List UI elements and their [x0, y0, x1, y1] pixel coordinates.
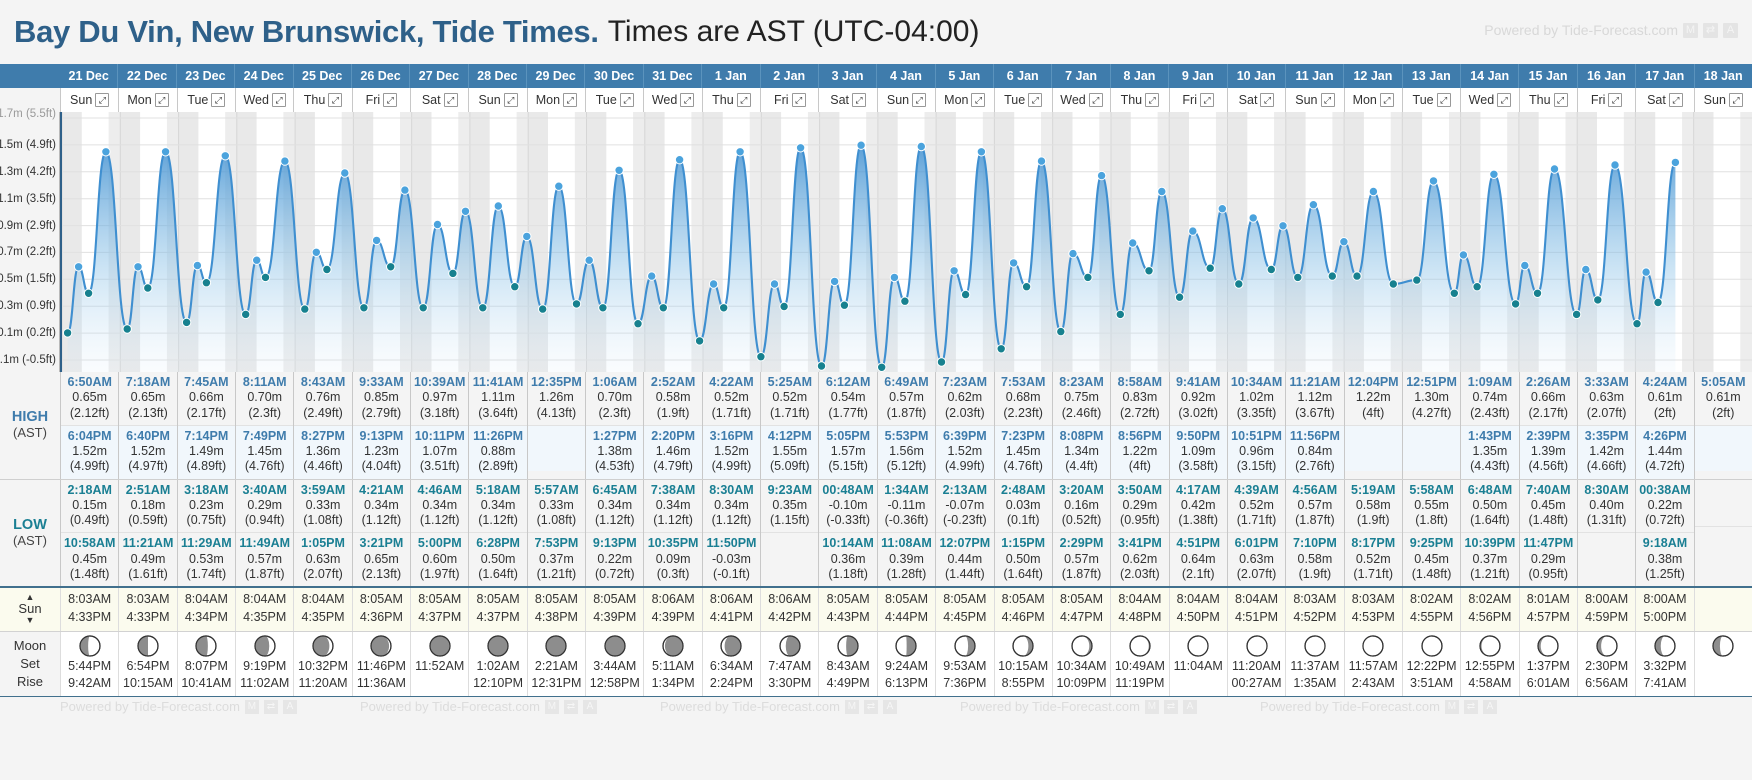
weekday-cell[interactable]: Mon⤢: [1344, 88, 1402, 112]
high-tide-entry: 10:51PM0.96m(3.15ft): [1228, 425, 1285, 479]
weekday-cell[interactable]: Thu⤢: [293, 88, 351, 112]
tide-time: 9:13PM: [586, 536, 643, 551]
sun-cell: 8:05AM4:43PM: [818, 588, 876, 631]
low-tide-column[interactable]: 8:30AM0.34m(1.12ft)11:50PM-0.03m(-0.1ft): [702, 480, 760, 587]
low-tide-entry: 8:30AM0.34m(1.12ft): [703, 480, 760, 533]
low-tide-column[interactable]: 2:13AM-0.07m(-0.23ft)12:07PM0.44m(1.44ft…: [935, 480, 993, 587]
date-header-cell[interactable]: 26 Dec: [351, 64, 409, 88]
high-tide-entry: 8:43AM0.76m(2.49ft): [294, 372, 351, 425]
tide-height-feet: (1.77ft): [819, 406, 876, 421]
tide-height-feet: (1.87ft): [1286, 513, 1343, 528]
tide-height-metres: 0.58m: [1286, 552, 1343, 567]
tide-height-feet: (2.13ft): [119, 406, 176, 421]
date-header-cell[interactable]: 16 Jan: [1577, 64, 1635, 88]
high-tide-section: HIGH (AST) 6:50AM0.65m(2.12ft)6:04PM1.52…: [0, 372, 1752, 480]
tide-time: 7:53PM: [528, 536, 585, 551]
sunrise-time: 8:05AM: [936, 591, 993, 609]
tide-time: 2:39PM: [1520, 429, 1577, 444]
tide-height-feet: (4.53ft): [586, 459, 643, 474]
date-header-cell[interactable]: 25 Dec: [293, 64, 351, 88]
tide-height-feet: (4.76ft): [236, 459, 293, 474]
date-header-cell[interactable]: 31 Dec: [643, 64, 701, 88]
expand-day-icon[interactable]: ⤢: [328, 93, 342, 107]
weekday-cell[interactable]: Sun⤢: [60, 88, 118, 112]
weekday-cell[interactable]: Wed⤢: [1460, 88, 1518, 112]
moonrise-time: 10:15AM: [119, 675, 176, 693]
date-header-cell[interactable]: 18 Jan: [1694, 64, 1752, 88]
tide-height-metres: 0.18m: [119, 498, 176, 513]
tide-height-feet: (4.27ft): [1403, 406, 1460, 421]
expand-day-icon[interactable]: ⤢: [504, 93, 518, 107]
tide-height-metres: 1.12m: [1286, 390, 1343, 405]
moon-cell: 10:49AM11:19PM: [1110, 632, 1168, 696]
moonset-time: 9:53AM: [936, 658, 993, 676]
low-tide-column[interactable]: 4:39AM0.52m(1.71ft)6:01PM0.63m(2.07ft): [1227, 480, 1285, 587]
tide-height-feet: (2.3ft): [236, 406, 293, 421]
low-tide-column[interactable]: 5:57AM0.33m(1.08ft)7:53PM0.37m(1.21ft): [527, 480, 585, 587]
expand-day-icon[interactable]: ⤢: [1669, 93, 1683, 107]
high-tide-column[interactable]: 12:51PM1.30m(4.27ft): [1402, 372, 1460, 479]
low-tide-entry: [761, 532, 818, 578]
tide-time: 3:40AM: [236, 483, 293, 498]
footer-badge-icon: A: [283, 700, 297, 714]
low-tide-column[interactable]: 1:34AM-0.11m(-0.36ft)11:08AM0.39m(1.28ft…: [877, 480, 935, 587]
tide-height-feet: (1.21ft): [1461, 567, 1518, 582]
high-tide-column[interactable]: 7:18AM0.65m(2.13ft)6:40PM1.52m(4.97ft): [118, 372, 176, 479]
sunset-time: 4:33PM: [119, 609, 176, 627]
tide-height-feet: (4.79ft): [644, 459, 701, 474]
weekday-cell[interactable]: Sun⤢: [1285, 88, 1343, 112]
moon-phase-icon: [1111, 634, 1168, 658]
expand-day-icon[interactable]: ⤢: [1554, 93, 1568, 107]
date-header-cell[interactable]: 14 Jan: [1460, 64, 1518, 88]
expand-day-icon[interactable]: ⤢: [1200, 93, 1214, 107]
expand-day-icon[interactable]: ⤢: [95, 93, 109, 107]
weekday-cell[interactable]: Fri⤢: [1169, 88, 1227, 112]
weekday-cell[interactable]: Sat⤢: [1635, 88, 1693, 112]
moon-cell: 3:32PM7:41AM: [1635, 632, 1693, 696]
date-header-cell[interactable]: 7 Jan: [1051, 64, 1109, 88]
sunrise-time: 8:02AM: [1403, 591, 1460, 609]
date-header-cell[interactable]: 21 Dec: [60, 64, 117, 88]
tide-height-feet: (1.28ft): [878, 567, 935, 582]
date-header-cell[interactable]: 13 Jan: [1402, 64, 1460, 88]
date-header-cell[interactable]: 5 Jan: [935, 64, 993, 88]
tide-curve-chart[interactable]: [60, 112, 1752, 372]
expand-day-icon[interactable]: ⤢: [1028, 93, 1042, 107]
sun-cell: 8:05AM4:38PM: [527, 588, 585, 631]
low-tide-column[interactable]: 7:40AM0.45m(1.48ft)11:47PM0.29m(0.95ft): [1519, 480, 1577, 587]
tide-height-metres: 0.35m: [761, 498, 818, 513]
date-header-cell[interactable]: 8 Jan: [1110, 64, 1168, 88]
date-header-cell[interactable]: 6 Jan: [993, 64, 1051, 88]
low-tide-column[interactable]: 4:17AM0.42m(1.38ft)4:51PM0.64m(2.1ft): [1169, 480, 1227, 587]
expand-day-icon[interactable]: ⤢: [211, 93, 225, 107]
weekday-cell[interactable]: Mon⤢: [118, 88, 176, 112]
low-tide-column[interactable]: 8:30AM0.40m(1.31ft): [1577, 480, 1635, 587]
high-tide-entry: 9:50PM1.09m(3.58ft): [1170, 425, 1227, 479]
high-tide-column[interactable]: 1:06AM0.70m(2.3ft)1:27PM1.38m(4.53ft): [585, 372, 643, 479]
low-tide-entry: 00:38AM0.22m(0.72ft): [1636, 480, 1693, 533]
low-tide-column[interactable]: 6:48AM0.50m(1.64ft)10:39PM0.37m(1.21ft): [1460, 480, 1518, 587]
weekday-label: Thu: [1529, 93, 1551, 107]
high-tide-entry: 8:56PM1.22m(4ft): [1111, 425, 1168, 479]
expand-day-icon[interactable]: ⤢: [1145, 93, 1159, 107]
tide-height-feet: (4.76ft): [995, 459, 1052, 474]
tide-height-feet: (2.12ft): [61, 406, 118, 421]
high-tide-entry: 2:20PM1.46m(4.79ft): [644, 425, 701, 479]
y-axis-tick: 0.7m (2.2ft): [0, 246, 56, 258]
moon-cell: 9:24AM6:13PM: [877, 632, 935, 696]
high-tide-column[interactable]: 6:49AM0.57m(1.87ft)5:53PM1.56m(5.12ft): [877, 372, 935, 479]
moon-cell: 11:20AM00:27AM: [1227, 632, 1285, 696]
expand-day-icon[interactable]: ⤢: [1729, 93, 1743, 107]
tide-time: 9:41AM: [1170, 375, 1227, 390]
date-header-cell[interactable]: 28 Dec: [468, 64, 526, 88]
moon-cell: 6:54PM10:15AM: [118, 632, 176, 696]
date-header-cell[interactable]: 1 Jan: [701, 64, 759, 88]
high-tide-column[interactable]: 8:11AM0.70m(2.3ft)7:49PM1.45m(4.76ft): [235, 372, 293, 479]
tide-time: 7:49PM: [236, 429, 293, 444]
moon-phase-icon: [819, 634, 876, 658]
high-tide-column[interactable]: 1:09AM0.74m(2.43ft)1:43PM1.35m(4.43ft): [1460, 372, 1518, 479]
tide-height-metres: 1.22m: [1345, 390, 1402, 405]
weekday-cell[interactable]: Sun⤢: [468, 88, 526, 112]
low-tide-entry: 2:18AM0.15m(0.49ft): [61, 480, 118, 533]
tide-height-feet: (3.58ft): [1170, 459, 1227, 474]
high-tide-column[interactable]: 6:12AM0.54m(1.77ft)5:05PM1.57m(5.15ft): [818, 372, 876, 479]
sunset-time: 4:39PM: [586, 609, 643, 627]
low-tide-column[interactable]: 2:51AM0.18m(0.59ft)11:21AM0.49m(1.61ft): [118, 480, 176, 587]
footer-watermarks: Powered by Tide-Forecast.comM⇄APowered b…: [60, 696, 1752, 720]
tide-height-metres: 0.34m: [703, 498, 760, 513]
tide-time: 6:45AM: [586, 483, 643, 498]
expand-day-icon[interactable]: ⤢: [1089, 93, 1103, 107]
weekday-cell[interactable]: Sat⤢: [818, 88, 876, 112]
expand-day-icon[interactable]: ⤢: [737, 93, 751, 107]
date-header-cell[interactable]: 15 Jan: [1518, 64, 1576, 88]
high-tide-column[interactable]: 5:25AM0.52m(1.71ft)4:12PM1.55m(5.09ft): [760, 372, 818, 479]
high-tide-column[interactable]: 2:26AM0.66m(2.17ft)2:39PM1.39m(4.56ft): [1519, 372, 1577, 479]
sun-cell: 8:00AM4:59PM: [1577, 588, 1635, 631]
tide-time: 2:51AM: [119, 483, 176, 498]
tide-height-feet: (2.79ft): [353, 406, 410, 421]
moonrise-time: 10:09PM: [1053, 675, 1110, 693]
tide-time: 11:26PM: [469, 429, 526, 444]
tide-height-feet: (1.12ft): [353, 513, 410, 528]
moon-phase-icon: [528, 634, 585, 658]
tide-time: 00:48AM: [819, 483, 876, 498]
high-tide-entry: 7:14PM1.49m(4.89ft): [178, 425, 235, 479]
tide-time: 5:00PM: [411, 536, 468, 551]
low-tide-entry: 6:48AM0.50m(1.64ft): [1461, 480, 1518, 533]
moonrise-time: 3:51AM: [1403, 675, 1460, 693]
high-tide-column[interactable]: 8:23AM0.75m(2.46ft)8:08PM1.34m(4.4ft): [1052, 372, 1110, 479]
sun-cell: 8:05AM4:36PM: [352, 588, 410, 631]
weekday-cell[interactable]: Tue⤢: [994, 88, 1052, 112]
low-tide-column[interactable]: 4:56AM0.57m(1.87ft)7:10PM0.58m(1.9ft): [1285, 480, 1343, 587]
low-tide-column[interactable]: 3:40AM0.29m(0.94ft)11:49AM0.57m(1.87ft): [235, 480, 293, 587]
tide-height-feet: (0.1ft): [995, 513, 1052, 528]
high-tide-column[interactable]: 3:33AM0.63m(2.07ft)3:35PM1.42m(4.66ft): [1577, 372, 1635, 479]
tide-height-metres: 0.74m: [1461, 390, 1518, 405]
date-header-cell[interactable]: 3 Jan: [818, 64, 876, 88]
sunset-time: 4:48PM: [1111, 609, 1168, 627]
tide-height-feet: (-0.33ft): [819, 513, 876, 528]
tide-height-metres: -0.03m: [703, 552, 760, 567]
expand-day-icon[interactable]: ⤢: [563, 93, 577, 107]
high-tide-column[interactable]: 6:50AM0.65m(2.12ft)6:04PM1.52m(4.99ft): [60, 372, 118, 479]
tide-time: 9:25PM: [1403, 536, 1460, 551]
chart-y-axis: 1.7m (5.5ft)1.5m (4.9ft)1.3m (4.2ft)1.1m…: [0, 112, 60, 372]
tide-height-metres: 0.38m: [1636, 552, 1693, 567]
high-tide-column[interactable]: 5:05AM0.61m(2ft): [1694, 372, 1752, 479]
tide-height-metres: 0.34m: [411, 498, 468, 513]
high-tide-column[interactable]: 2:52AM0.58m(1.9ft)2:20PM1.46m(4.79ft): [643, 372, 701, 479]
moonset-time: 11:46PM: [353, 658, 410, 676]
sunrise-time: 8:06AM: [644, 591, 701, 609]
tide-height-metres: 0.65m: [61, 390, 118, 405]
low-tide-entry: 8:30AM0.40m(1.31ft): [1578, 480, 1635, 533]
weekday-cell[interactable]: Tue⤢: [1402, 88, 1460, 112]
moonrise-time: 12:31PM: [528, 675, 585, 693]
expand-day-icon[interactable]: ⤢: [680, 93, 694, 107]
high-tide-column[interactable]: 11:41AM1.11m(3.64ft)11:26PM0.88m(2.89ft): [468, 372, 526, 479]
date-header-cell[interactable]: 29 Dec: [526, 64, 584, 88]
tide-height-metres: 0.37m: [528, 552, 585, 567]
moonrise-time: 9:42AM: [61, 675, 118, 693]
high-tide-column[interactable]: 9:41AM0.92m(3.02ft)9:50PM1.09m(3.58ft): [1169, 372, 1227, 479]
sun-section: ▲ Sun ▼ 8:03AM4:33PM8:03AM4:33PM8:04AM4:…: [0, 588, 1752, 631]
low-tide-title: LOW: [13, 517, 47, 534]
tide-height-feet: (1.71ft): [1228, 513, 1285, 528]
expand-day-icon[interactable]: ⤢: [272, 93, 286, 107]
expand-day-icon[interactable]: ⤢: [155, 93, 169, 107]
footer-badge-icon: A: [883, 700, 897, 714]
date-header-cell[interactable]: 30 Dec: [584, 64, 642, 88]
tide-time: 4:39AM: [1228, 483, 1285, 498]
date-header-cell[interactable]: 24 Dec: [234, 64, 292, 88]
moon-cell: 7:47AM3:30PM: [760, 632, 818, 696]
expand-day-icon[interactable]: ⤢: [792, 93, 806, 107]
tide-time: 1:34AM: [878, 483, 935, 498]
sun-cell: 8:04AM4:34PM: [177, 588, 235, 631]
tide-height-feet: (1.97ft): [411, 567, 468, 582]
tide-height-metres: 0.34m: [469, 498, 526, 513]
weekday-cell[interactable]: Fri⤢: [760, 88, 818, 112]
tide-time: 3:20AM: [1053, 483, 1110, 498]
low-tide-column[interactable]: 6:45AM0.34m(1.12ft)9:13PM0.22m(0.72ft): [585, 480, 643, 587]
tide-height-feet: (0.95ft): [1111, 513, 1168, 528]
low-tide-column[interactable]: 00:38AM0.22m(0.72ft)9:18AM0.38m(1.25ft): [1635, 480, 1693, 587]
expand-day-icon[interactable]: ⤢: [1260, 93, 1274, 107]
sunrise-time: 8:01AM: [1520, 591, 1577, 609]
moon-phase-icon: [1520, 634, 1577, 658]
tide-height-metres: 0.66m: [178, 390, 235, 405]
sunset-time: 4:38PM: [528, 609, 585, 627]
low-tide-column[interactable]: 3:20AM0.16m(0.52ft)2:29PM0.57m(1.87ft): [1052, 480, 1110, 587]
low-tide-column[interactable]: 4:46AM0.34m(1.12ft)5:00PM0.60m(1.97ft): [410, 480, 468, 587]
tide-time: 12:35PM: [528, 375, 585, 390]
moon-cell: 9:53AM7:36PM: [935, 632, 993, 696]
date-header-cell[interactable]: 12 Jan: [1343, 64, 1401, 88]
low-tide-entry: 12:07PM0.44m(1.44ft): [936, 532, 993, 586]
low-tide-column[interactable]: 9:23AM0.35m(1.15ft): [760, 480, 818, 587]
tide-height-feet: (2ft): [1636, 406, 1693, 421]
low-tide-entry: 8:17PM0.52m(1.71ft): [1345, 532, 1402, 586]
low-tide-column[interactable]: 7:38AM0.34m(1.12ft)10:35PM0.09m(0.3ft): [643, 480, 701, 587]
high-tide-column[interactable]: 8:58AM0.83m(2.72ft)8:56PM1.22m(4ft): [1110, 372, 1168, 479]
high-tide-column[interactable]: 10:34AM1.02m(3.35ft)10:51PM0.96m(3.15ft): [1227, 372, 1285, 479]
expand-day-icon[interactable]: ⤢: [852, 93, 866, 107]
low-tide-column[interactable]: 3:59AM0.33m(1.08ft)1:05PM0.63m(2.07ft): [293, 480, 351, 587]
tide-height-metres: 1.39m: [1520, 444, 1577, 459]
weekday-label: Wed: [1469, 93, 1494, 107]
tide-height-feet: (1.71ft): [703, 406, 760, 421]
tide-height-feet: (1.64ft): [1461, 513, 1518, 528]
weekday-cell[interactable]: Tue⤢: [585, 88, 643, 112]
weekday-cell[interactable]: Wed⤢: [235, 88, 293, 112]
weekday-cell[interactable]: Thu⤢: [1110, 88, 1168, 112]
tide-height-metres: 0.52m: [703, 390, 760, 405]
low-tide-entry: 11:47PM0.29m(0.95ft): [1520, 532, 1577, 586]
weekday-cell[interactable]: Wed⤢: [1052, 88, 1110, 112]
high-tide-entry: 4:26PM1.44m(4.72ft): [1636, 425, 1693, 479]
moonrise-title: Rise: [17, 673, 43, 690]
high-tide-column[interactable]: 12:35PM1.26m(4.13ft): [527, 372, 585, 479]
date-header-cell[interactable]: 9 Jan: [1168, 64, 1226, 88]
high-tide-entry: 6:04PM1.52m(4.99ft): [61, 425, 118, 479]
date-header-cell[interactable]: 22 Dec: [117, 64, 175, 88]
low-tide-column[interactable]: 2:48AM0.03m(0.1ft)1:15PM0.50m(1.64ft): [994, 480, 1052, 587]
tide-height-metres: 0.39m: [878, 552, 935, 567]
tide-time: 7:53AM: [995, 375, 1052, 390]
low-tide-column[interactable]: 3:50AM0.29m(0.95ft)3:41PM0.62m(2.03ft): [1110, 480, 1168, 587]
expand-day-icon[interactable]: ⤢: [1380, 93, 1394, 107]
expand-day-icon[interactable]: ⤢: [1437, 93, 1451, 107]
tide-height-feet: (1.48ft): [61, 567, 118, 582]
tide-height-metres: 0.57m: [236, 552, 293, 567]
moon-cell: 12:55PM4:58AM: [1460, 632, 1518, 696]
sunrise-time: 8:04AM: [1170, 591, 1227, 609]
tide-time: 10:51PM: [1228, 429, 1285, 444]
weekday-cell[interactable]: Sat⤢: [410, 88, 468, 112]
date-header-cell[interactable]: 2 Jan: [760, 64, 818, 88]
tide-time: 3:41PM: [1111, 536, 1168, 551]
tide-time: 2:29PM: [1053, 536, 1110, 551]
weekday-cell[interactable]: Fri⤢: [1577, 88, 1635, 112]
expand-day-icon[interactable]: ⤢: [1497, 93, 1511, 107]
tide-height-metres: 0.63m: [1228, 552, 1285, 567]
expand-day-icon[interactable]: ⤢: [444, 93, 458, 107]
moonrise-time: 2:43AM: [1345, 675, 1402, 693]
low-tide-column[interactable]: 3:18AM0.23m(0.75ft)11:29AM0.53m(1.74ft): [177, 480, 235, 587]
sunrise-time: 8:04AM: [1228, 591, 1285, 609]
tide-height-feet: (4.4ft): [1053, 459, 1110, 474]
high-tide-entry: 6:50AM0.65m(2.12ft): [61, 372, 118, 425]
high-tide-entry: 12:35PM1.26m(4.13ft): [528, 372, 585, 425]
tide-time: 7:38AM: [644, 483, 701, 498]
weekday-cell[interactable]: Tue⤢: [177, 88, 235, 112]
low-tide-column[interactable]: 5:18AM0.34m(1.12ft)6:28PM0.50m(1.64ft): [468, 480, 526, 587]
low-tide-column[interactable]: 5:19AM0.58m(1.9ft)8:17PM0.52m(1.71ft): [1344, 480, 1402, 587]
high-tide-column[interactable]: 12:04PM1.22m(4ft): [1344, 372, 1402, 479]
tide-time: 11:08AM: [878, 536, 935, 551]
high-tide-column[interactable]: 9:33AM0.85m(2.79ft)9:13PM1.23m(4.04ft): [352, 372, 410, 479]
high-tide-column[interactable]: 4:22AM0.52m(1.71ft)3:16PM1.52m(4.99ft): [702, 372, 760, 479]
sunset-time: 4:59PM: [1578, 609, 1635, 627]
tide-time: 1:06AM: [586, 375, 643, 390]
tide-height-metres: 0.54m: [819, 390, 876, 405]
date-header-cell[interactable]: 10 Jan: [1227, 64, 1285, 88]
sun-cell: 8:03AM4:52PM: [1285, 588, 1343, 631]
high-tide-entry: 7:49PM1.45m(4.76ft): [236, 425, 293, 479]
tide-time: 8:30AM: [703, 483, 760, 498]
low-tide-column[interactable]: 4:21AM0.34m(1.12ft)3:21PM0.65m(2.13ft): [352, 480, 410, 587]
tide-time: 4:22AM: [703, 375, 760, 390]
expand-day-icon[interactable]: ⤢: [1321, 93, 1335, 107]
weekday-cell[interactable]: Mon⤢: [935, 88, 993, 112]
high-tide-column[interactable]: 4:24AM0.61m(2ft)4:26PM1.44m(4.72ft): [1635, 372, 1693, 479]
expand-day-icon[interactable]: ⤢: [1608, 93, 1622, 107]
sunrise-time: 8:05AM: [411, 591, 468, 609]
low-tide-column[interactable]: 2:18AM0.15m(0.49ft)10:58AM0.45m(1.48ft): [60, 480, 118, 587]
high-tide-column[interactable]: 7:53AM0.68m(2.23ft)7:23PM1.45m(4.76ft): [994, 372, 1052, 479]
high-tide-column[interactable]: 8:43AM0.76m(2.49ft)8:27PM1.36m(4.46ft): [293, 372, 351, 479]
date-header-cell[interactable]: 23 Dec: [176, 64, 234, 88]
sunset-time: 4:36PM: [353, 609, 410, 627]
low-tide-entry: 1:05PM0.63m(2.07ft): [294, 532, 351, 586]
weekday-cell[interactable]: Sat⤢: [1227, 88, 1285, 112]
moon-phase-icon: [353, 634, 410, 658]
tide-time: 10:11PM: [411, 429, 468, 444]
date-header-cell[interactable]: 27 Dec: [409, 64, 467, 88]
tide-height-metres: 1.02m: [1228, 390, 1285, 405]
high-tide-column[interactable]: 7:23AM0.62m(2.03ft)6:39PM1.52m(4.99ft): [935, 372, 993, 479]
tide-height-metres: -0.10m: [819, 498, 876, 513]
expand-day-icon[interactable]: ⤢: [620, 93, 634, 107]
high-tide-column[interactable]: 10:39AM0.97m(3.18ft)10:11PM1.07m(3.51ft): [410, 372, 468, 479]
low-tide-column[interactable]: 5:58AM0.55m(1.8ft)9:25PM0.45m(1.48ft): [1402, 480, 1460, 587]
weekday-cell[interactable]: Sun⤢: [1694, 88, 1752, 112]
low-tide-column[interactable]: 00:48AM-0.10m(-0.33ft)10:14AM0.36m(1.18f…: [818, 480, 876, 587]
weekday-cell[interactable]: Thu⤢: [1519, 88, 1577, 112]
expand-day-icon[interactable]: ⤢: [971, 93, 985, 107]
high-tide-column[interactable]: 7:45AM0.66m(2.17ft)7:14PM1.49m(4.89ft): [177, 372, 235, 479]
expand-day-icon[interactable]: ⤢: [383, 93, 397, 107]
date-header-cell[interactable]: 17 Jan: [1635, 64, 1693, 88]
moonrise-time: 11:36AM: [353, 675, 410, 693]
moonset-time: 5:11AM: [644, 658, 701, 676]
weekday-cell[interactable]: Wed⤢: [643, 88, 701, 112]
weekday-cell[interactable]: Mon⤢: [527, 88, 585, 112]
expand-day-icon[interactable]: ⤢: [912, 93, 926, 107]
high-tide-column[interactable]: 11:21AM1.12m(3.67ft)11:56PM0.84m(2.76ft): [1285, 372, 1343, 479]
date-header-cell[interactable]: 4 Jan: [876, 64, 934, 88]
tide-height-metres: -0.07m: [936, 498, 993, 513]
footer-watermark-text: Powered by Tide-Forecast.com: [1260, 699, 1440, 714]
weekday-cell[interactable]: Fri⤢: [352, 88, 410, 112]
weekday-cell[interactable]: Sun⤢: [877, 88, 935, 112]
date-header-cell[interactable]: 11 Jan: [1285, 64, 1343, 88]
weekday-cell[interactable]: Thu⤢: [702, 88, 760, 112]
high-tide-tz: (AST): [13, 426, 47, 441]
low-tide-column[interactable]: [1694, 480, 1752, 587]
y-axis-tick: -0.1m (-0.5ft): [0, 354, 56, 366]
moonset-time: 12:22PM: [1403, 658, 1460, 676]
weekday-label: Sun: [1295, 93, 1317, 107]
sunrise-time: 8:05AM: [586, 591, 643, 609]
